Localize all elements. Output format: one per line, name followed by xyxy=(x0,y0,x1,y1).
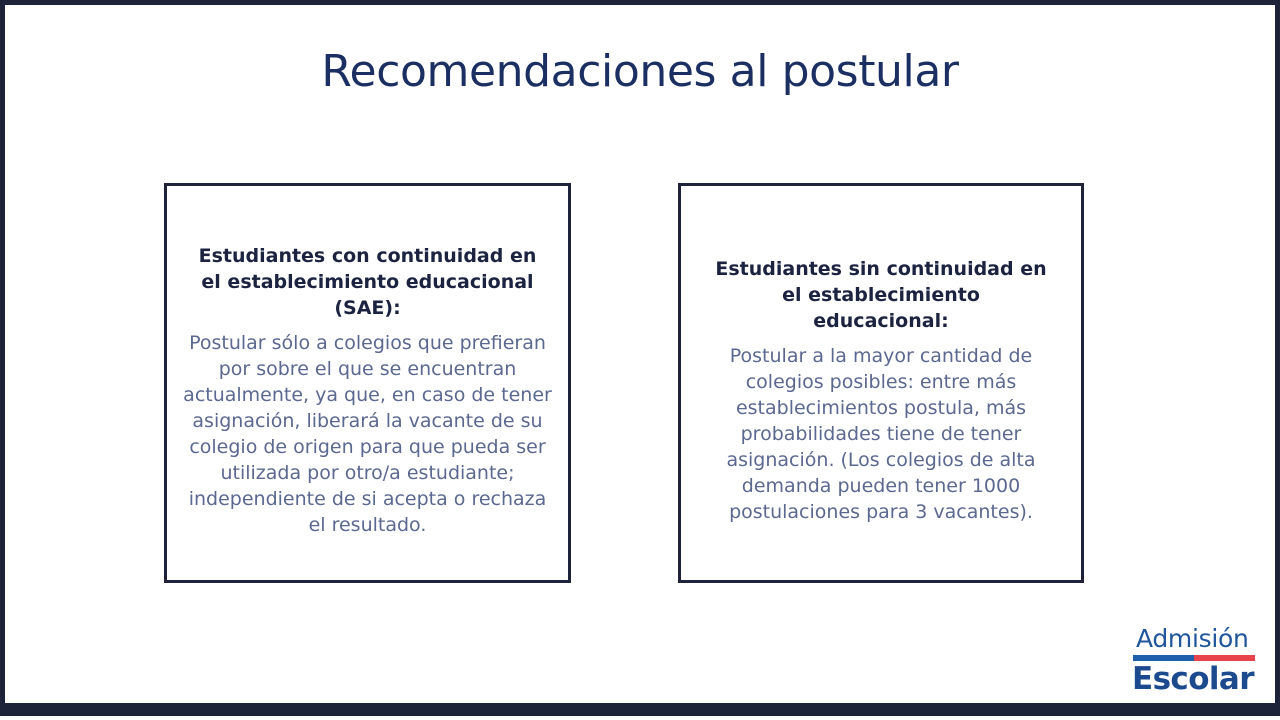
card-content: Estudiantes sin continuidad en el establ… xyxy=(695,186,1067,525)
logo-word-escolar: Escolar xyxy=(1132,664,1258,696)
card-heading: Estudiantes con continuidad en el establ… xyxy=(181,243,554,321)
logo-word-admision: Admisión xyxy=(1136,626,1258,652)
slide-frame-left xyxy=(0,0,5,716)
card-body-text: Postular a la mayor cantidad de colegios… xyxy=(695,343,1067,525)
slide-frame-right xyxy=(1275,0,1280,716)
card-content: Estudiantes con continuidad en el establ… xyxy=(181,186,554,538)
slide: Recomendaciones al postular Estudiantes … xyxy=(0,0,1280,720)
card-heading: Estudiantes sin continuidad en el establ… xyxy=(695,256,1067,334)
page-title: Recomendaciones al postular xyxy=(0,46,1280,97)
recommendation-card-no-sae: Estudiantes sin continuidad en el establ… xyxy=(678,183,1084,583)
card-body-text: Postular sólo a colegios que prefieran p… xyxy=(181,330,554,538)
recommendation-card-sae: Estudiantes con continuidad en el establ… xyxy=(164,183,571,583)
admision-escolar-logo: Admisión Escolar xyxy=(1132,626,1258,696)
slide-frame-bottom xyxy=(0,703,1280,716)
slide-frame-top xyxy=(0,0,1280,5)
